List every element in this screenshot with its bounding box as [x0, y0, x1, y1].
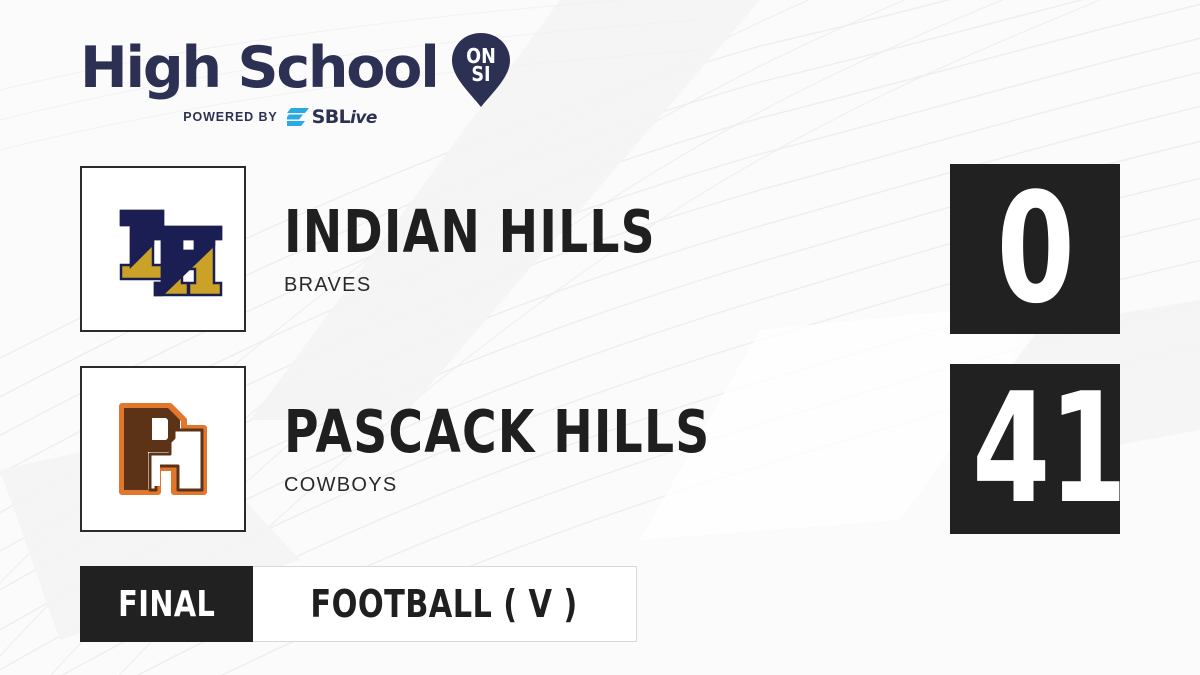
brand-row: High School ON SI — [80, 34, 510, 102]
team-row-home[interactable]: PASCACK HILLS COWBOYS 41 — [80, 364, 1120, 534]
team-name-away: INDIAN HILLS — [284, 202, 817, 262]
brand-lockup: High School ON SI POWERED BY SBLive — [80, 34, 510, 134]
svg-text:SI: SI — [471, 64, 490, 86]
score-value-home: 41 — [972, 373, 1098, 525]
team-logo-tile-away — [80, 166, 246, 332]
team-logo-tile-home — [80, 366, 246, 532]
sport-label: FOOTBALL ( V ) — [311, 582, 578, 626]
pascack-hills-ph-monogram-icon — [108, 394, 218, 504]
score-box-home: 41 — [950, 364, 1120, 534]
on-si-pin-icon: ON SI — [450, 31, 512, 109]
status-badge-label: FINAL — [118, 584, 215, 625]
scorecard: High School ON SI POWERED BY SBLive — [0, 0, 1200, 675]
status-bar: FINAL FOOTBALL ( V ) — [80, 566, 637, 642]
score-value-away: 0 — [972, 173, 1098, 325]
score-box-away: 0 — [950, 164, 1120, 334]
team-row-away[interactable]: INDIAN HILLS BRAVES 0 — [80, 164, 1120, 334]
sblive-logo: SBLive — [287, 106, 377, 128]
team-mascot-home: COWBOYS — [284, 474, 950, 497]
sport-label-box: FOOTBALL ( V ) — [253, 566, 636, 642]
powered-by-label: POWERED BY — [183, 110, 277, 124]
team-info-away: INDIAN HILLS BRAVES — [284, 202, 950, 297]
team-name-home: PASCACK HILLS — [284, 402, 817, 462]
sblive-wordmark: SBLive — [312, 106, 377, 128]
sblive-s-icon — [287, 108, 309, 126]
brand-wordmark: High School — [80, 39, 438, 97]
team-info-home: PASCACK HILLS COWBOYS — [284, 402, 950, 497]
indian-hills-ih-monogram-icon — [103, 189, 223, 309]
status-badge: FINAL — [80, 566, 253, 642]
sblive-italic: ive — [350, 108, 377, 128]
powered-by-row: POWERED BY SBLive — [80, 106, 480, 128]
team-mascot-away: BRAVES — [284, 274, 950, 297]
sblive-bold: SBL — [312, 106, 350, 128]
